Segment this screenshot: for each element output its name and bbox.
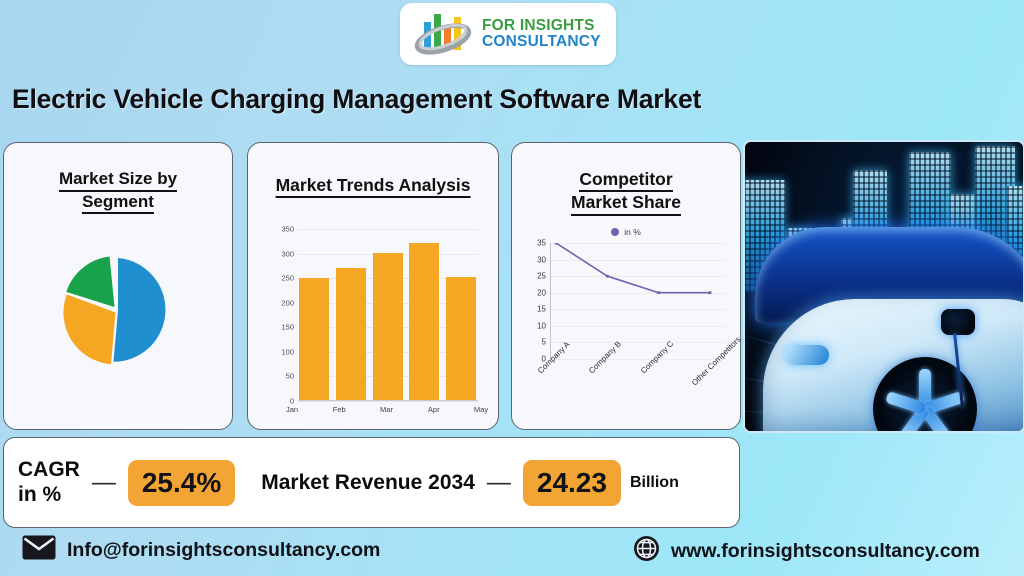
cagr-label-line2: in % <box>18 483 80 508</box>
line-chart-title: Competitor Market Share <box>512 169 740 216</box>
line-y-tick-label: 25 <box>526 272 546 281</box>
cagr-value-badge: 25.4% <box>128 460 235 506</box>
bar-y-tick-label: 250 <box>270 274 294 283</box>
line-chart: 05101520253035 <box>526 243 726 359</box>
cagr-dash: — <box>92 469 116 497</box>
line-chart-series <box>550 243 726 359</box>
line-y-tick-label: 20 <box>526 288 546 297</box>
bar-chart-x-axis <box>298 400 478 401</box>
line-chart-title-line2: Market Share <box>571 192 681 215</box>
bar-column <box>373 253 403 400</box>
legend-dot-icon <box>611 228 619 236</box>
bar-chart-x-labels: JanFebMarAprMay <box>277 405 496 414</box>
line-y-tick-label: 5 <box>526 338 546 347</box>
pie-chart-svg <box>57 249 179 371</box>
envelope-icon <box>22 535 56 565</box>
line-data-point <box>555 243 558 244</box>
headlight <box>785 345 829 365</box>
bar-x-tick-label: May <box>466 405 496 414</box>
bar-x-tick-label: Jan <box>277 405 307 414</box>
footer-email[interactable]: Info@forinsightsconsultancy.com <box>22 535 380 565</box>
footer-website-text: www.forinsightsconsultancy.com <box>671 540 980 563</box>
stats-bar: CAGR in % — 25.4% Market Revenue 2034 — … <box>3 437 740 528</box>
bar-y-tick-label: 100 <box>270 347 294 356</box>
brand-logo-line1: FOR INSIGHTS <box>482 18 601 34</box>
brand-logo-line2: CONSULTANCY <box>482 34 601 50</box>
globe-icon <box>633 535 660 567</box>
bar-chart: 050100150200250300350 <box>270 229 478 401</box>
pie-chart-title: Market Size by Segment <box>4 169 232 214</box>
ev-charging-image <box>743 140 1024 433</box>
line-y-tick-label: 30 <box>526 255 546 264</box>
revenue-value-badge: 24.23 <box>523 460 621 506</box>
cagr-label: CAGR in % <box>18 458 80 508</box>
bar-chart-swoosh-logo-icon <box>406 6 480 62</box>
card-market-size-by-segment: Market Size by Segment <box>3 142 233 430</box>
bar-chart-series <box>299 229 476 400</box>
pie-chart <box>4 249 232 371</box>
bar-column <box>336 268 366 400</box>
card-competitor-market-share: Competitor Market Share in % 05101520253… <box>511 142 741 430</box>
charging-port <box>941 309 975 335</box>
bar-column <box>446 277 476 400</box>
bar-y-tick-label: 300 <box>270 249 294 258</box>
bar-y-tick-label: 150 <box>270 323 294 332</box>
line-y-tick-label: 35 <box>526 239 546 248</box>
revenue-label: Market Revenue 2034 <box>261 471 475 495</box>
bar-x-tick-label: Mar <box>372 405 402 414</box>
line-gridline <box>550 359 726 360</box>
line-chart-legend: in % <box>512 227 740 237</box>
infographic-root: FOR INSIGHTS CONSULTANCY Electric Vehicl… <box>0 0 1024 576</box>
pie-slice-1 <box>114 258 166 362</box>
cagr-label-line1: CAGR <box>18 458 80 483</box>
line-chart-x-labels: Company ACompany BCompany COther Competi… <box>536 365 736 435</box>
line-path <box>556 243 710 293</box>
brand-logo[interactable]: FOR INSIGHTS CONSULTANCY <box>400 3 616 65</box>
bar-x-tick-label: Apr <box>419 405 449 414</box>
bar-x-tick-label: Feb <box>324 405 354 414</box>
line-data-point <box>606 275 609 278</box>
bar-y-tick-label: 350 <box>270 225 294 234</box>
bar-y-tick-label: 50 <box>270 372 294 381</box>
revenue-unit: Billion <box>630 474 679 492</box>
brand-logo-text: FOR INSIGHTS CONSULTANCY <box>482 18 601 51</box>
card-market-trends-analysis: Market Trends Analysis 05010015020025030… <box>247 142 499 430</box>
bar-column <box>409 243 439 400</box>
line-y-tick-label: 10 <box>526 321 546 330</box>
revenue-dash: — <box>487 469 511 497</box>
line-y-tick-label: 15 <box>526 305 546 314</box>
bar-gridline <box>298 401 478 402</box>
bar-y-tick-label: 200 <box>270 298 294 307</box>
bar-column <box>299 278 329 400</box>
footer-email-text: Info@forinsightsconsultancy.com <box>67 539 380 562</box>
bar-chart-title: Market Trends Analysis <box>276 175 471 198</box>
line-data-point <box>657 291 660 294</box>
legend-label: in % <box>624 227 641 237</box>
line-chart-title-line1: Competitor <box>579 169 672 192</box>
line-data-point <box>709 291 712 294</box>
pie-chart-title-line2: Segment <box>82 192 154 215</box>
pie-chart-title-line1: Market Size by <box>59 169 177 192</box>
footer-website[interactable]: www.forinsightsconsultancy.com <box>633 535 980 567</box>
page-title: Electric Vehicle Charging Management Sof… <box>12 84 701 115</box>
pie-slice-2 <box>63 294 115 364</box>
